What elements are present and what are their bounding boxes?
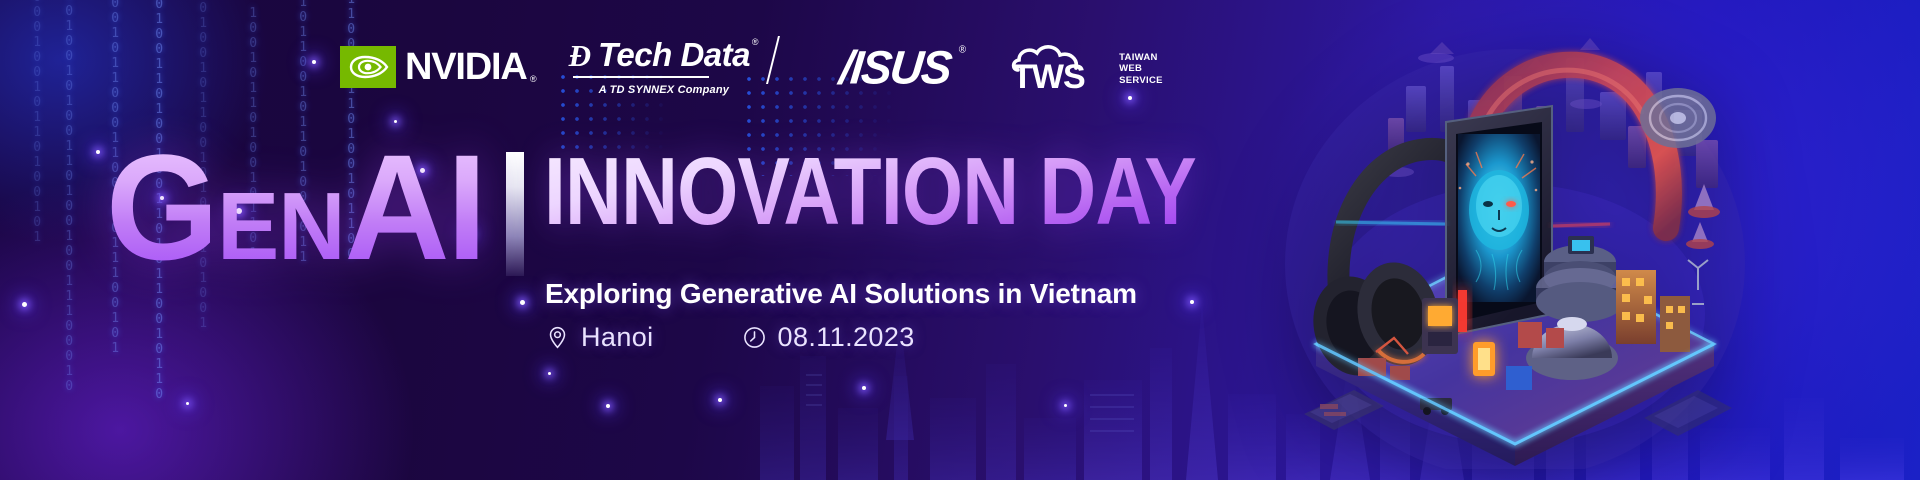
logo-nvidia[interactable]: NVIDIA® xyxy=(340,46,537,88)
nvidia-wordmark: NVIDIA® xyxy=(405,48,537,86)
genai-en: EN xyxy=(217,184,344,270)
event-meta-row: Hanoi 08.11.2023 xyxy=(545,322,915,353)
tech-data-mark: Đ xyxy=(569,40,591,71)
tech-data-rule xyxy=(573,76,709,78)
genai-ai: AI xyxy=(345,140,485,275)
headline-block: GENAI INNOVATION DAY xyxy=(100,140,1220,276)
event-date-label: 08.11.2023 xyxy=(778,322,915,353)
tws-sub-line-2: WEB xyxy=(1119,63,1163,75)
ai-tech-city-illustration xyxy=(1280,14,1750,469)
binary-column: 00010010110100101 xyxy=(30,0,44,245)
glow-particle xyxy=(312,60,316,64)
tws-wordmark: TWS xyxy=(1012,60,1085,94)
nvidia-trademark: ® xyxy=(530,75,537,84)
tech-data-tagline: A TD SYNNEX Company xyxy=(599,84,730,96)
tws-sub-line-3: SERVICE xyxy=(1119,75,1163,87)
asus-trademark: ® xyxy=(958,46,963,56)
headline-divider-bar xyxy=(506,152,524,276)
event-date: 08.11.2023 xyxy=(742,322,915,353)
event-location-label: Hanoi xyxy=(581,322,654,353)
tech-data-trademark: ® xyxy=(752,38,758,47)
location-pin-icon xyxy=(545,325,570,350)
glow-particle xyxy=(1128,96,1132,100)
nvidia-eye-icon xyxy=(340,46,396,88)
tech-data-wordmark: Tech Data® xyxy=(598,38,758,71)
tech-data-slash xyxy=(766,36,780,84)
tws-sub-lines: TAIWAN WEB SERVICE xyxy=(1119,52,1163,87)
tws-sub-line-1: TAIWAN xyxy=(1119,52,1163,64)
tws-lockup: TWS xyxy=(1010,40,1112,94)
logo-tws[interactable]: TWS TAIWAN WEB SERVICE xyxy=(1010,40,1163,94)
logo-asus[interactable]: /ISUS® xyxy=(840,44,962,90)
logo-tech-data[interactable]: Đ Tech Data® A TD SYNNEX Company xyxy=(569,38,780,96)
event-location: Hanoi xyxy=(545,322,654,353)
event-banner: 0001001011010010111010010100110100100111… xyxy=(0,0,1920,480)
event-subtitle: Exploring Generative AI Solutions in Vie… xyxy=(545,278,1137,310)
genai-wordmark: GENAI xyxy=(106,140,484,275)
partner-logo-row: NVIDIA® Đ Tech Data® A TD SYNNEX Company… xyxy=(340,38,1163,96)
genai-g: G xyxy=(106,140,217,275)
headline-title: INNOVATION DAY xyxy=(544,146,1196,237)
clock-icon xyxy=(742,325,767,350)
asus-wordmark: /ISUS® xyxy=(838,44,965,91)
